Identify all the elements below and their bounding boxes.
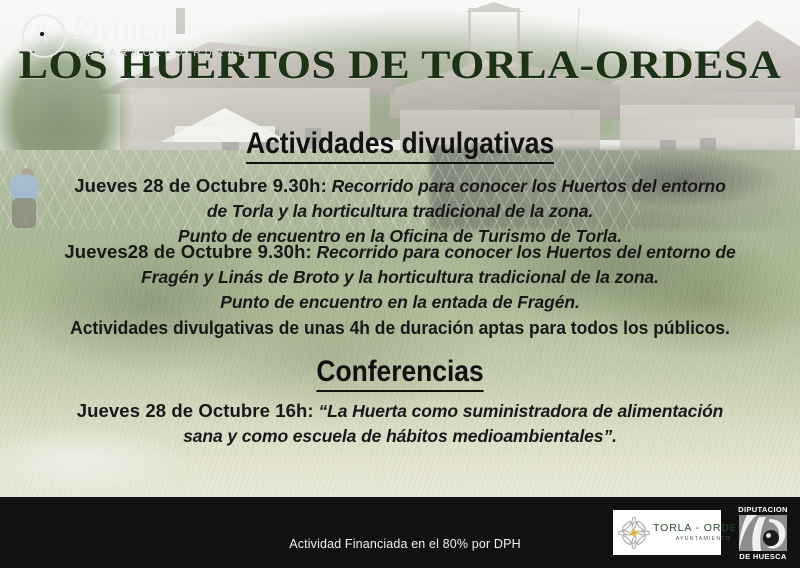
conference-line: Jueves 28 de Octubre 16h: “La Huerta com…	[48, 398, 752, 424]
dph-emblem-icon	[739, 515, 787, 551]
torla-ordesa-logo: TORLA - ORDESA AYUNTAMIENTO	[613, 510, 721, 555]
section-heading-actividades: Actividades divulgativas	[0, 127, 800, 164]
poster-content: LOS HUERTOS DE TORLA-ORDESA Actividades …	[0, 0, 800, 497]
conference-text: “La Huerta como suministradora de alimen…	[314, 401, 724, 421]
activity-text: Recorrido para conocer los Huertos del e…	[312, 242, 736, 262]
activity-text: Recorrido para conocer los Huertos del e…	[327, 176, 726, 196]
conference-lead: Jueves 28 de Octubre 16h:	[77, 400, 314, 421]
edelweiss-flower-icon	[618, 517, 650, 549]
conference-item: Jueves 28 de Octubre 16h: “La Huerta com…	[48, 398, 752, 449]
activity-line: de Torla y la horticultura tradicional d…	[48, 199, 752, 224]
activity-line: Punto de encuentro en la entada de Fragé…	[48, 290, 752, 315]
pirinea-tagline: DESARROLLO RURAL	[76, 48, 248, 59]
poster: LOS HUERTOS DE TORLA-ORDESA Actividades …	[0, 0, 800, 568]
activity-lead: Jueves 28 de Octubre 9.30h:	[74, 175, 327, 196]
section-heading-conferencias: Conferencias	[0, 355, 800, 392]
diputacion-huesca-logo: DIPUTACION DE HUESCA	[735, 505, 791, 561]
conference-line: sana y como escuela de hábitos medioambi…	[48, 424, 752, 449]
section-heading-actividades-label: Actividades divulgativas	[246, 127, 554, 164]
activity-item: Jueves28 de Octubre 9.30h: Recorrido par…	[48, 239, 752, 315]
activity-line: Jueves28 de Octubre 9.30h: Recorrido par…	[48, 239, 752, 265]
activities-note: Actividades divulgativas de unas 4h de d…	[59, 316, 742, 340]
pirinea-wordmark: Pirinea	[72, 11, 169, 47]
dph-bottom-label: DE HUESCA	[735, 552, 791, 561]
pirinea-logo: Pirinea DESARROLLO RURAL	[22, 10, 252, 62]
activity-lead: Jueves28 de Octubre 9.30h:	[64, 241, 311, 262]
dph-top-label: DIPUTACION	[735, 505, 791, 514]
activity-item: Jueves 28 de Octubre 9.30h: Recorrido pa…	[48, 173, 752, 249]
activity-line: Jueves 28 de Octubre 9.30h: Recorrido pa…	[48, 173, 752, 199]
section-heading-conferencias-label: Conferencias	[316, 355, 483, 392]
financing-text: Actividad Financiada en el 80% por DPH	[240, 537, 570, 551]
pinwheel-icon	[22, 14, 66, 58]
activity-line: Fragén y Linás de Broto y la horticultur…	[48, 265, 752, 290]
